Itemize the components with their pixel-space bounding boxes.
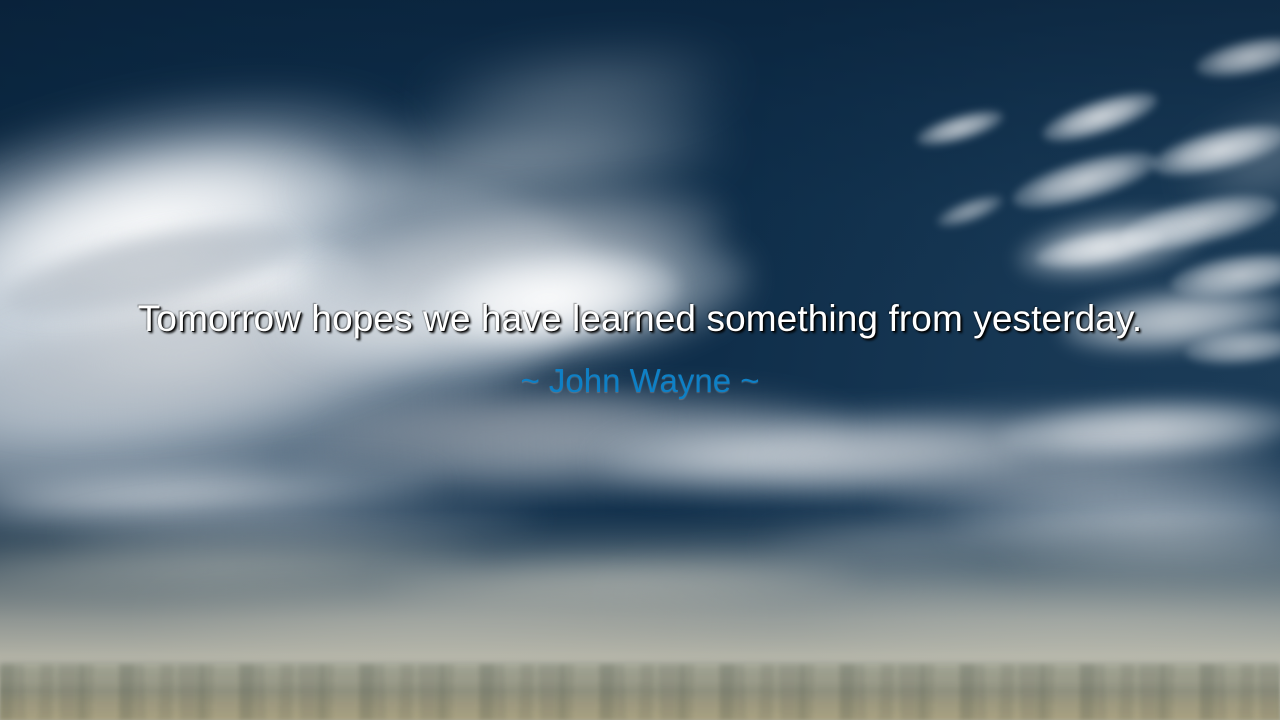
cloud-speck-right-e — [1007, 140, 1162, 220]
cloud-speck-right-a — [913, 103, 1007, 153]
quote-author[interactable]: ~ John Wayne ~ — [0, 361, 1280, 401]
cloud-speck-right-b — [1038, 82, 1163, 151]
quote-text: Tomorrow hopes we have learned something… — [0, 296, 1280, 342]
cloud-speck-right-d — [1193, 29, 1280, 85]
landscape-texture — [0, 664, 1280, 720]
quote-block: Tomorrow hopes we have learned something… — [0, 296, 1280, 401]
quote-image-canvas: Tomorrow hopes we have learned something… — [0, 0, 1280, 720]
cloud-speck-right-g — [933, 189, 1006, 234]
